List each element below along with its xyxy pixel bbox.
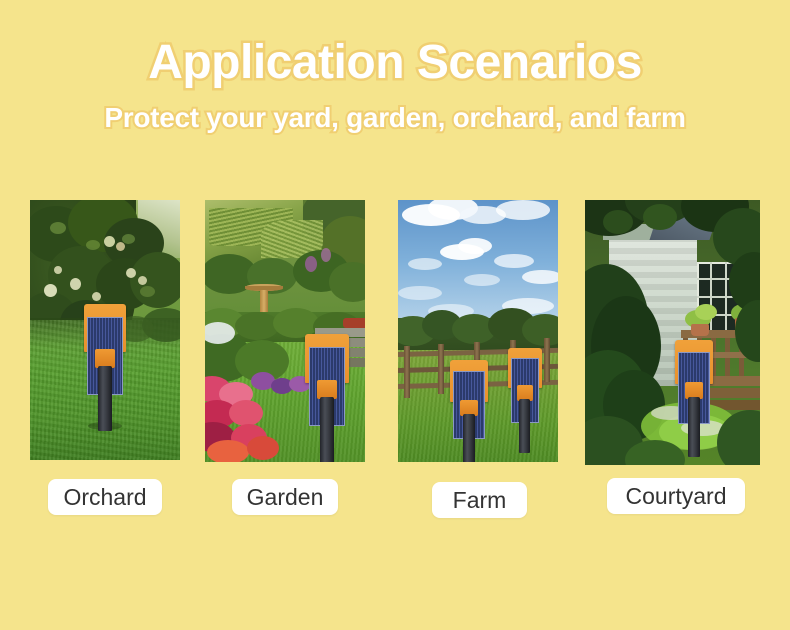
scenario-card-orchard[interactable] <box>30 200 180 460</box>
device-post <box>519 399 530 453</box>
scenario-label-orchard-text: Orchard <box>63 484 146 510</box>
scenario-card-farm[interactable] <box>398 200 558 462</box>
page-subtitle: Protect your yard, garden, orchard, and … <box>0 98 790 138</box>
scenario-label-farm: Farm <box>432 482 527 518</box>
application-scenarios-page: Application Scenarios Protect your yard,… <box>0 0 790 630</box>
solar-stake-device <box>508 348 542 452</box>
heading-block: Application Scenarios Protect your yard,… <box>0 34 790 138</box>
courtyard-photo <box>585 200 760 465</box>
farm-photo <box>398 200 558 462</box>
scenario-label-garden-text: Garden <box>247 484 324 510</box>
scenario-card-garden[interactable] <box>205 200 365 462</box>
device-post <box>463 414 476 462</box>
device-post <box>98 366 112 432</box>
orchard-photo <box>30 200 180 460</box>
device-post <box>688 397 701 457</box>
garden-photo <box>205 200 365 462</box>
solar-stake-device <box>450 360 488 462</box>
scenario-label-orchard: Orchard <box>48 479 162 515</box>
scenario-label-courtyard-text: Courtyard <box>626 483 727 509</box>
solar-stake-device <box>84 304 126 430</box>
scenario-card-courtyard[interactable] <box>585 200 760 465</box>
device-post <box>320 397 335 462</box>
solar-stake-device <box>305 334 349 462</box>
page-title: Application Scenarios <box>0 34 790 92</box>
solar-stake-device <box>675 340 713 456</box>
scenario-label-garden: Garden <box>232 479 338 515</box>
scenario-label-courtyard: Courtyard <box>607 478 745 514</box>
scenario-label-farm-text: Farm <box>453 487 507 513</box>
